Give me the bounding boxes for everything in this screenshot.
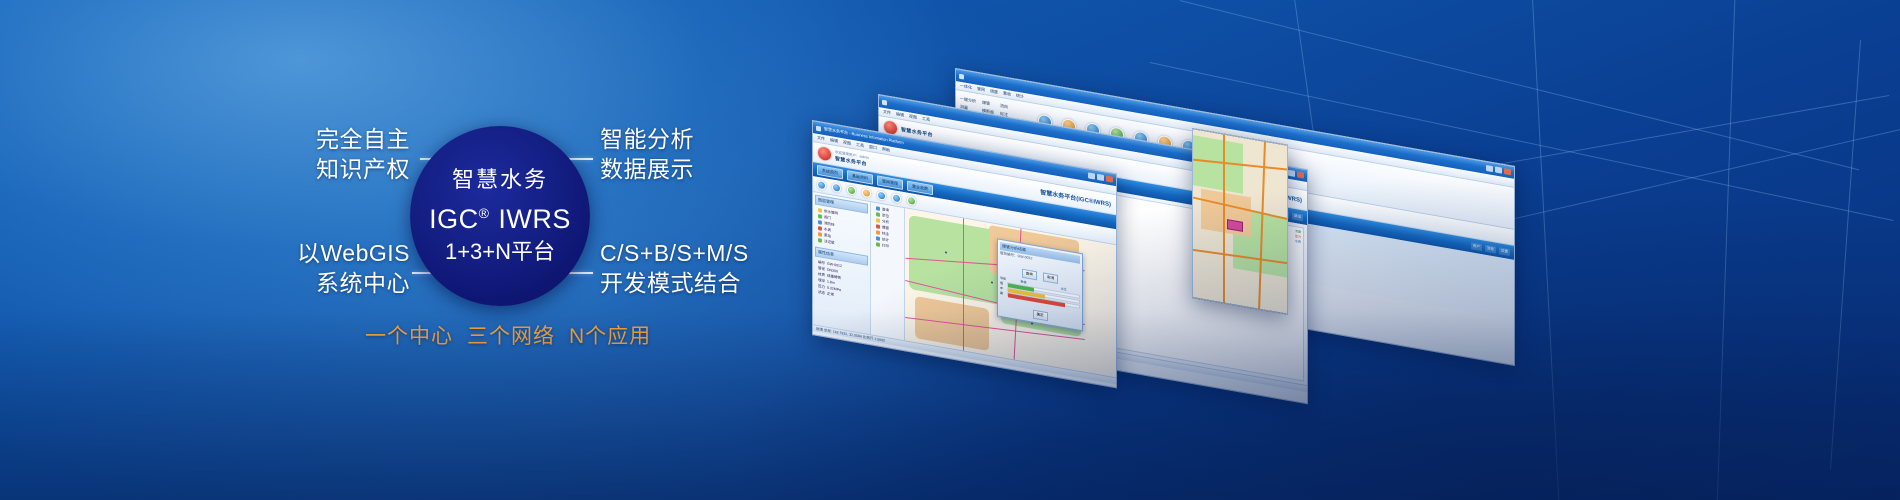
- feature-bottom-left-line1: 以WebGIS: [292, 238, 410, 268]
- analysis-dialog[interactable]: 爆管分析结果 管段编号：GW-0012 查询 取消 等级 数值 占比 低: [997, 238, 1083, 331]
- identify-icon[interactable]: [892, 193, 901, 204]
- feature-top-left-line1: 完全自主: [300, 124, 410, 154]
- ribbon-cmd[interactable]: 流向: [1000, 103, 1008, 110]
- menu-item[interactable]: 一体化: [960, 83, 972, 91]
- feature-top-right-line2: 数据展示: [600, 154, 694, 184]
- menu-item[interactable]: 编辑: [830, 137, 838, 144]
- nav-chip[interactable]: 用户: [1471, 242, 1482, 251]
- menu-item[interactable]: 管网: [977, 86, 985, 93]
- feature-cluster: 完全自主 知识产权 以WebGIS 系统中心 智能分析 数据展示 C/S+B/S…: [0, 0, 800, 500]
- menu-item[interactable]: 窗口: [869, 144, 877, 151]
- window-map-right[interactable]: [1192, 128, 1288, 315]
- menu-item[interactable]: 调度: [990, 88, 998, 95]
- zoom-out-icon[interactable]: [847, 185, 856, 196]
- badge-product: IWRS: [498, 204, 571, 234]
- banner-stage: 完全自主 知识产权 以WebGIS 系统中心 智能分析 数据展示 C/S+B/S…: [0, 0, 1900, 500]
- chart-legend: 流量 压力 水质: [1295, 229, 1301, 244]
- feature-bottom-right: C/S+B/S+M/S 开发模式结合: [600, 238, 749, 298]
- badge-line-3: 1+3+N平台: [445, 237, 555, 267]
- nav-chip[interactable]: 设置: [1499, 247, 1510, 256]
- tagline-part1: 一个中心: [365, 325, 453, 348]
- dialog-ok-button[interactable]: 确定: [1033, 310, 1048, 322]
- app-icon: [816, 125, 821, 131]
- maximize-icon[interactable]: [1495, 167, 1502, 174]
- feature-bottom-left-line2: 系统中心: [292, 268, 410, 298]
- feature-top-right: 智能分析 数据展示: [600, 124, 694, 184]
- close-icon[interactable]: [1106, 175, 1113, 182]
- minimize-icon[interactable]: [1486, 165, 1493, 172]
- tagline-part2: 三个网络: [467, 325, 555, 348]
- tool-column[interactable]: 查询 定位 分析 爆管 标注 统计 打印: [871, 202, 905, 340]
- badge-line-2: IGC®IWRS: [429, 196, 571, 236]
- menu-item[interactable]: 编辑: [896, 111, 904, 118]
- prop-value: 正常: [827, 291, 834, 297]
- feature-top-right-line1: 智能分析: [600, 124, 694, 154]
- feature-top-left: 完全自主 知识产权: [300, 124, 410, 184]
- pan-icon[interactable]: [817, 180, 826, 191]
- tagline: 一个中心三个网络N个应用: [365, 320, 651, 350]
- app-icon: [959, 73, 964, 79]
- map-road: [963, 218, 964, 353]
- feature-top-left-line2: 知识产权: [300, 154, 410, 184]
- row-level: 高: [1000, 291, 1006, 296]
- layer-panel[interactable]: 图层管理 供水管网 阀门 消防栓 水表 泵站 注记层 属性信息 编号GW-001…: [813, 192, 871, 334]
- menu-item[interactable]: 视图: [909, 113, 917, 120]
- badge-line-1: 智慧水务: [452, 166, 548, 194]
- tagline-part3: N个应用: [569, 325, 651, 348]
- ribbon-cmd[interactable]: 爆管: [982, 100, 994, 108]
- maximize-icon[interactable]: [1097, 174, 1104, 181]
- nav-chip[interactable]: 消息: [1485, 244, 1496, 253]
- menu-item[interactable]: 视图: [843, 139, 851, 146]
- measure-icon[interactable]: [877, 190, 886, 201]
- window-frame[interactable]: [1192, 128, 1288, 315]
- menu-item[interactable]: 营收: [1003, 90, 1011, 97]
- right-map-canvas[interactable]: [1193, 129, 1287, 313]
- logo-icon: [818, 146, 831, 161]
- menu-item[interactable]: 工具: [922, 116, 930, 123]
- feature-bottom-right-line1: C/S+B/S+M/S: [600, 238, 749, 268]
- feature-bottom-right-line2: 开发模式结合: [600, 268, 749, 298]
- menu-item[interactable]: 工具: [856, 142, 864, 149]
- dialog-query-button[interactable]: 查询: [1022, 269, 1037, 281]
- menu-item[interactable]: 文件: [883, 109, 891, 116]
- menu-item[interactable]: 统计: [1016, 93, 1024, 100]
- menu-item[interactable]: 帮助: [882, 146, 890, 153]
- zoom-in-icon[interactable]: [832, 183, 841, 194]
- center-badge: 智慧水务 IGC®IWRS 1+3+N平台: [410, 126, 590, 306]
- dialog-cancel-button[interactable]: 取消: [1043, 272, 1058, 284]
- maximize-icon[interactable]: [1288, 170, 1295, 177]
- map-highway: [1223, 134, 1225, 304]
- minimize-icon[interactable]: [1088, 172, 1095, 179]
- close-icon[interactable]: [1297, 171, 1304, 178]
- app-icon: [882, 99, 887, 105]
- map-node[interactable]: [991, 281, 993, 283]
- nav-chip[interactable]: 退出: [1292, 212, 1303, 221]
- close-icon[interactable]: [1504, 168, 1511, 175]
- feature-bottom-left: 以WebGIS 系统中心: [292, 238, 410, 298]
- badge-brand: IGC: [429, 204, 479, 234]
- map-node[interactable]: [945, 251, 947, 253]
- print-icon[interactable]: [907, 196, 916, 207]
- select-icon[interactable]: [862, 188, 871, 199]
- registered-icon: ®: [479, 205, 490, 221]
- menu-item[interactable]: 文件: [817, 135, 825, 142]
- prop-key: 状态: [818, 290, 825, 296]
- legend-item: 水质: [1295, 239, 1301, 244]
